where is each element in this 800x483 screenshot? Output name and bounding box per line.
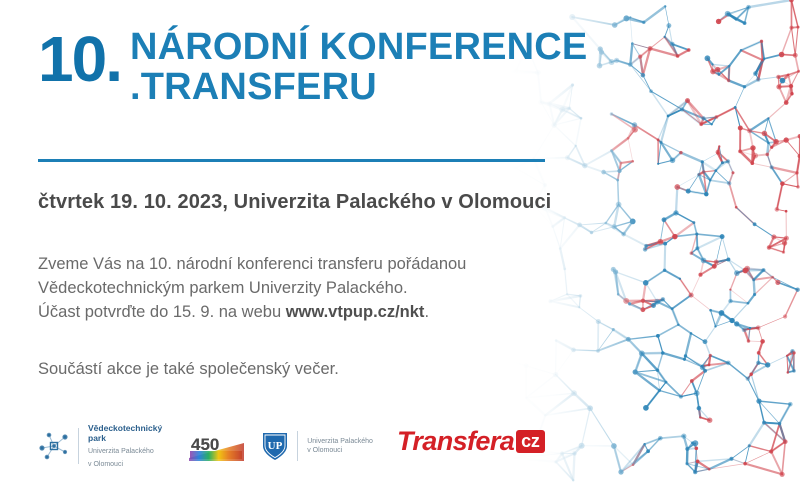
headline-line-1: NÁRODNÍ KONFERENCE <box>130 28 588 67</box>
vtp-divider <box>78 428 79 464</box>
headline-number: 10. <box>38 30 121 89</box>
conference-poster: 10. NÁRODNÍ KONFERENCE .TRANSFERU čtvrte… <box>0 0 800 483</box>
up-divider <box>297 431 298 461</box>
vtp-logo: Vědeckotechnický park Univerzita Palacké… <box>34 423 162 469</box>
social-evening-line: Součástí akce je také společenský večer. <box>38 357 538 381</box>
450-anniversary-logo: 450 450 <box>188 431 244 461</box>
event-dateline: čtvrtek 19. 10. 2023, Univerzita Palacké… <box>38 191 551 214</box>
up-shield-icon: UP <box>262 431 288 461</box>
headline-line-2: .TRANSFERU <box>130 68 588 107</box>
vtp-name-line-1: Vědeckotechnický <box>88 423 162 433</box>
vtp-sub-line-1: Univerzita Palackého <box>88 447 162 456</box>
transfera-wordmark: Transfera <box>397 428 514 455</box>
up-sub-line-2: v Olomouci <box>307 446 373 456</box>
social-evening-note: Součástí akce je také společenský večer. <box>38 357 538 381</box>
transfera-cz-badge: cz <box>516 430 544 453</box>
divider <box>38 159 545 162</box>
network-node-icon <box>34 426 74 466</box>
up-sub-line-1: Univerzita Palackého <box>307 437 373 447</box>
logo-bar: Vědeckotechnický park Univerzita Palacké… <box>34 420 373 472</box>
rsvp-suffix: . <box>424 303 429 321</box>
invitation-text: Zveme Vás na 10. národní konferenci tran… <box>38 252 538 324</box>
up-monogram: UP <box>268 440 283 452</box>
up-logo: UP Univerzita Palackého v Olomouci <box>262 431 373 461</box>
vtp-name-line-2: park <box>88 433 162 443</box>
transfera-logo: Transfera cz <box>397 428 545 455</box>
page-title: 10. NÁRODNÍ KONFERENCE .TRANSFERU <box>38 28 568 107</box>
invitation-line-1: Zveme Vás na 10. národní konferenci tran… <box>38 252 538 276</box>
vtp-sub-line-2: v Olomouci <box>88 460 162 469</box>
invitation-line-3: Účast potvrďte do 15. 9. na webu www.vtp… <box>38 300 538 324</box>
invitation-line-2: Vědeckotechnickým parkem Univerzity Pala… <box>38 276 538 300</box>
svg-text:450: 450 <box>191 435 219 454</box>
rsvp-prefix: Účast potvrďte do 15. 9. na webu <box>38 303 286 321</box>
registration-url[interactable]: www.vtpup.cz/nkt <box>286 303 425 321</box>
